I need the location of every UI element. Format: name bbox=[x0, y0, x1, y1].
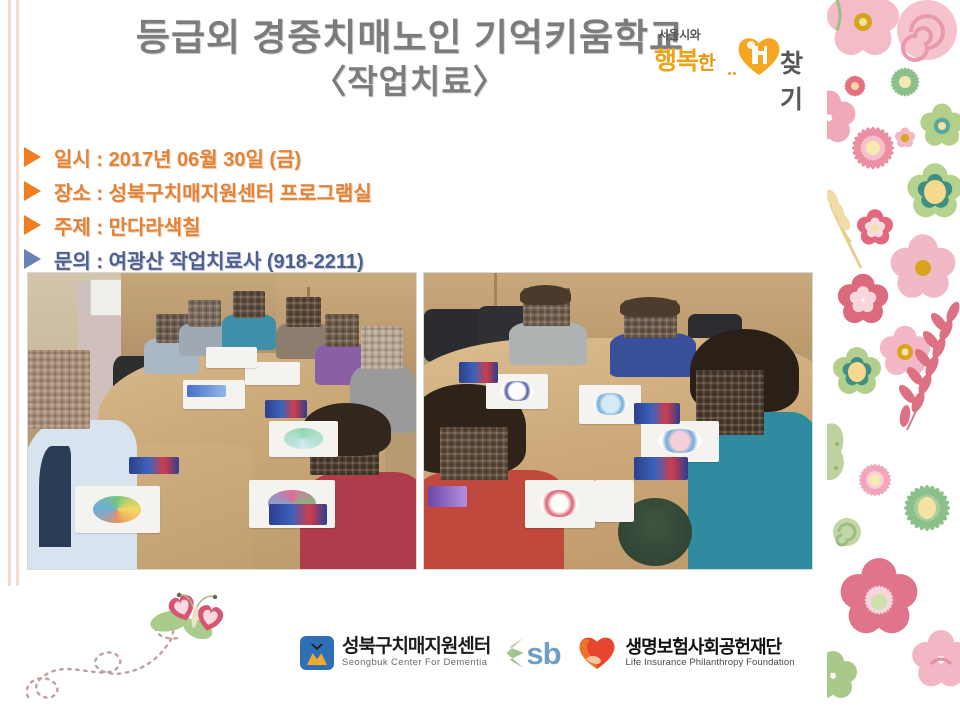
seongbuk-logo-en-text: Seongbuk Center For Dementia bbox=[342, 657, 490, 668]
bullet-row-contact: 문의 : 여광산 작업치료사 (918-2211) bbox=[24, 242, 584, 276]
seongbuk-logo-ko-text: 성북구치매지원센터 bbox=[342, 637, 490, 657]
seoul-happy-logo: 서울시와 행복한 찾기 bbox=[652, 26, 812, 82]
slide-canvas: 등급외 경중치매노인 기억키움학교 〈작업치료〉 서울시와 행복한 찾기 일시 … bbox=[0, 0, 960, 720]
triangle-bullet-icon bbox=[24, 249, 41, 269]
heart-logo-icon bbox=[736, 34, 782, 76]
heart-hands-icon bbox=[577, 635, 617, 671]
bullet-text-contact: 문의 : 여광산 작업치료사 (918-2211) bbox=[54, 245, 364, 274]
floral-pattern-border bbox=[827, 0, 960, 720]
seongbuk-center-logo-icon bbox=[300, 636, 334, 670]
butterfly-icon bbox=[20, 585, 290, 705]
seoul-logo-han-text: 한 bbox=[698, 53, 714, 74]
triangle-bullet-icon bbox=[24, 181, 41, 201]
bullet-row-topic: 주제 : 만다라색칠 bbox=[24, 208, 584, 242]
sb-logo: sb bbox=[506, 638, 560, 669]
info-bullet-list: 일시 : 2017년 06월 30일 (금) 장소 : 성북구치매지원센터 프로… bbox=[24, 140, 584, 276]
seoul-logo-big-text: 행복한 bbox=[654, 41, 715, 77]
bullet-text-place: 장소 : 성북구치매지원센터 프로그램실 bbox=[54, 177, 372, 206]
sb-leaf-icon bbox=[506, 638, 523, 668]
activity-photo-2 bbox=[423, 272, 813, 570]
activity-photo-1 bbox=[27, 272, 417, 570]
life-insurance-foundation-logo: 생명보험사회공헌재단 Life Insurance Philanthropy F… bbox=[577, 635, 795, 671]
photo-gallery bbox=[27, 272, 813, 570]
seoul-logo-tail-text: 찾기 bbox=[780, 44, 812, 116]
sb-logo-word: sb bbox=[526, 638, 560, 669]
bullet-row-date: 일시 : 2017년 06월 30일 (금) bbox=[24, 140, 584, 174]
footer-logo-row: 성북구치매지원센터 Seongbuk Center For Dementia s… bbox=[300, 622, 820, 684]
triangle-bullet-icon bbox=[24, 147, 41, 167]
life-logo-ko-text: 생명보험사회공헌재단 bbox=[626, 638, 795, 657]
seongbuk-center-logo: 성북구치매지원센터 Seongbuk Center For Dementia bbox=[300, 636, 490, 670]
triangle-bullet-icon bbox=[24, 215, 41, 235]
bullet-text-date: 일시 : 2017년 06월 30일 (금) bbox=[54, 143, 301, 172]
life-logo-en-text: Life Insurance Philanthropy Foundation bbox=[626, 657, 795, 669]
bullet-text-topic: 주제 : 만다라색칠 bbox=[54, 211, 201, 240]
bullet-row-place: 장소 : 성북구치매지원센터 프로그램실 bbox=[24, 174, 584, 208]
